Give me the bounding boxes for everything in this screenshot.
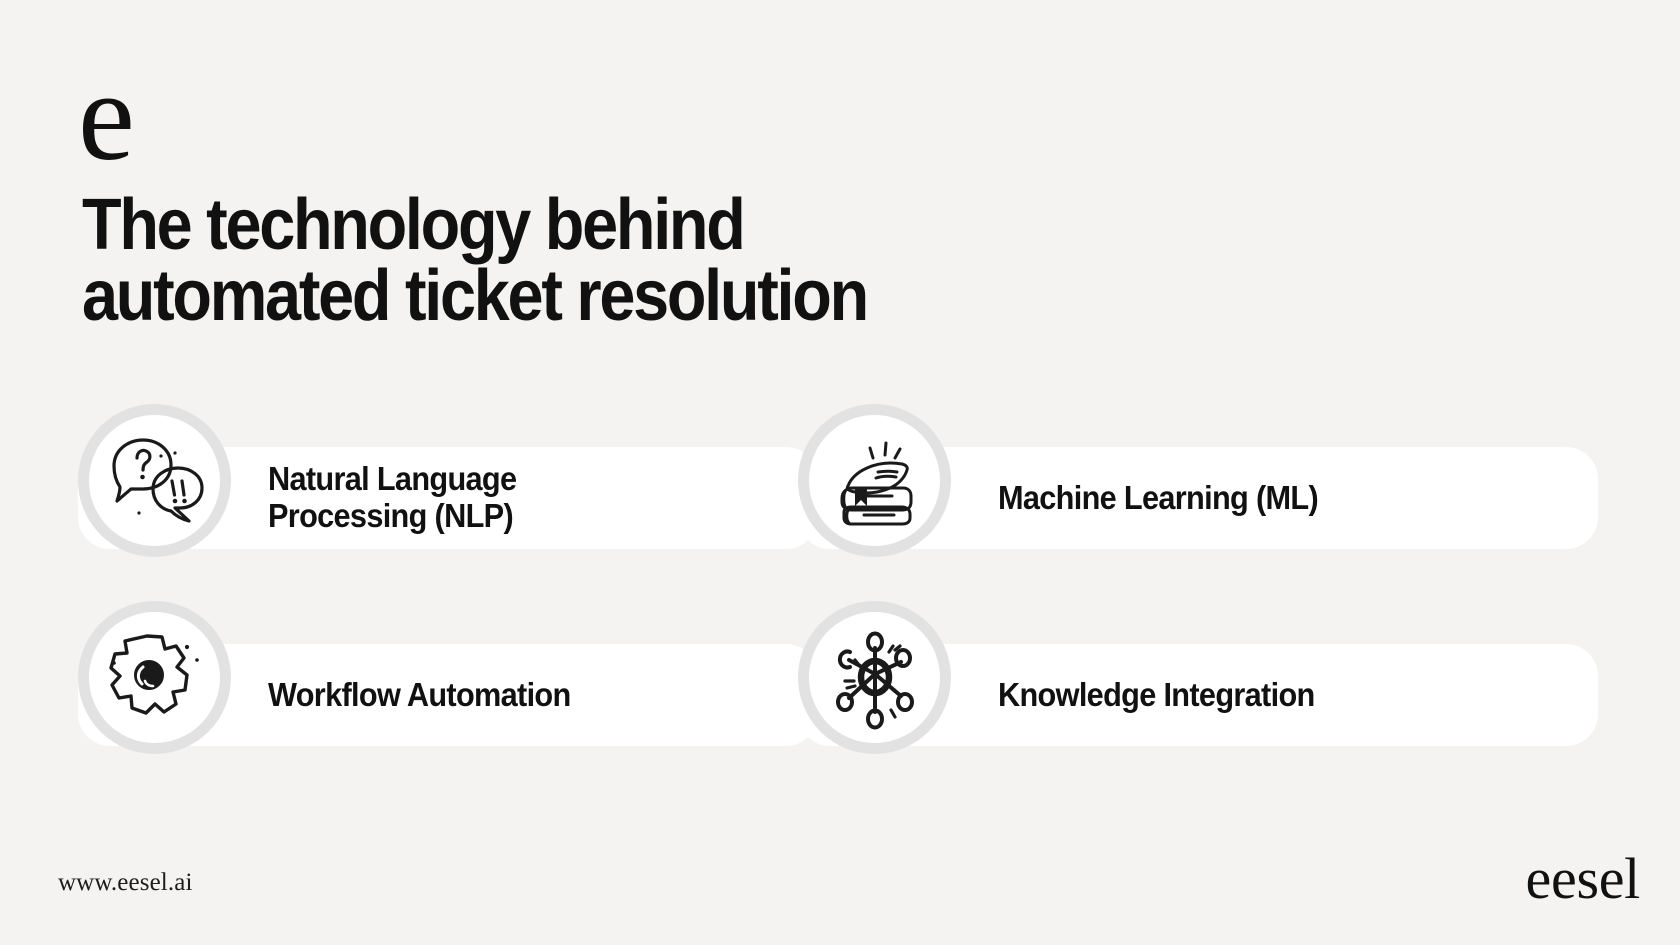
speech-bubbles-icon [78, 404, 231, 557]
feature-card-nlp-label-line-1: Natural Language [268, 460, 516, 497]
book-stack-icon [798, 404, 951, 557]
feature-card-workflow-automation-label: Workflow Automation [268, 677, 571, 714]
feature-card-nlp-label-line-2: Processing (NLP) [268, 497, 513, 534]
feature-card-nlp-label: Natural Language Processing (NLP) [268, 461, 516, 535]
eesel-wordmark: eesel [1526, 850, 1640, 908]
network-hub-icon [798, 601, 951, 754]
page-title-line-1: The technology behind [82, 190, 1072, 261]
gear-icon [78, 601, 231, 754]
feature-card-knowledge-integration-label: Knowledge Integration [998, 677, 1315, 714]
eesel-logo-mark: e [78, 52, 134, 180]
slide-root: e The technology behind automated ticket… [0, 0, 1680, 945]
page-title: The technology behind automated ticket r… [82, 190, 1072, 331]
footer-website-url[interactable]: www.eesel.ai [58, 869, 193, 897]
feature-card-machine-learning-label: Machine Learning (ML) [998, 480, 1318, 517]
page-title-line-2: automated ticket resolution [82, 261, 1072, 332]
